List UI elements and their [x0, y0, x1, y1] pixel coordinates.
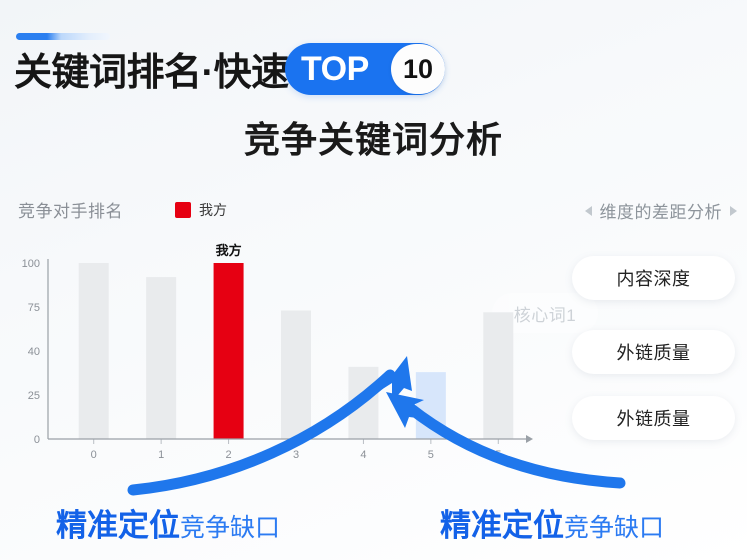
y-axis-tick-label: 100 — [22, 258, 40, 270]
callout-left-light: 竞争缺口 — [180, 508, 280, 544]
y-axis-tick-label: 25 — [28, 390, 40, 402]
legend-label: 我方 — [199, 200, 227, 220]
y-axis-tick-label: 40 — [28, 346, 40, 358]
chart-legend: 我方 — [175, 200, 227, 220]
top-rank-pill-label: TOP — [301, 52, 369, 86]
bar-chart: 100754025001我方23455 — [14, 243, 534, 468]
accent-bar — [16, 33, 110, 40]
callout-right-strong: 精准定位 — [440, 500, 564, 545]
page-title: 关键词排名·快速 — [14, 54, 289, 92]
bar-0[interactable] — [79, 263, 109, 439]
x-axis-tick-label: 3 — [293, 449, 299, 461]
chart-header: 竞争对手排名 我方 — [18, 197, 227, 222]
bar-4[interactable] — [348, 367, 378, 439]
bar-2[interactable] — [214, 263, 244, 439]
bar-1[interactable] — [146, 277, 176, 439]
x-axis-tick-label: 2 — [226, 449, 232, 461]
page-subtitle: 竞争关键词分析 — [0, 118, 747, 161]
chart-title: 竞争对手排名 — [18, 197, 123, 222]
top-rank-badge-label: 10 — [403, 56, 433, 83]
callout-left-strong: 精准定位 — [56, 500, 180, 545]
chevron-right-icon[interactable] — [730, 206, 737, 216]
top-rank-badge: 10 — [391, 44, 445, 94]
x-axis-tick-label: 5 — [428, 449, 434, 461]
x-axis-tick-label: 1 — [158, 449, 164, 461]
callout-left: 精准定位 竞争缺口 — [56, 500, 280, 545]
callout-right-light: 竞争缺口 — [564, 508, 664, 544]
panel-header: 维度的差距分析 — [585, 198, 738, 223]
x-axis-tick-label: 0 — [91, 449, 97, 461]
dimension-pill-1-label: 外链质量 — [617, 339, 691, 365]
callout-right: 精准定位 竞争缺口 — [440, 500, 664, 545]
bar-5[interactable] — [416, 372, 446, 439]
dimension-pill-2-label: 外链质量 — [617, 405, 691, 431]
x-axis-tick-label: 5 — [495, 449, 501, 461]
title-row: 关键词排名·快速 — [14, 44, 289, 102]
x-axis-tick-label: 4 — [360, 449, 366, 461]
x-axis-arrow-icon — [526, 435, 533, 443]
dimension-pill-0[interactable]: 内容深度 — [572, 256, 735, 300]
y-axis-tick-label: 0 — [34, 434, 40, 446]
bar-5[interactable] — [483, 312, 513, 439]
chevron-left-icon[interactable] — [585, 206, 592, 216]
dimension-pill-1[interactable]: 外链质量 — [572, 330, 735, 374]
bar-3[interactable] — [281, 311, 311, 439]
panel-title: 维度的差距分析 — [600, 198, 723, 223]
dimension-pill-0-label: 内容深度 — [617, 265, 691, 291]
legend-swatch-icon — [175, 202, 191, 218]
y-axis-tick-label: 75 — [28, 302, 40, 314]
bar-chart-svg: 100754025001我方23455 — [14, 243, 534, 468]
bar-highlight-label: 我方 — [216, 243, 242, 258]
dimension-pill-2[interactable]: 外链质量 — [572, 396, 735, 440]
